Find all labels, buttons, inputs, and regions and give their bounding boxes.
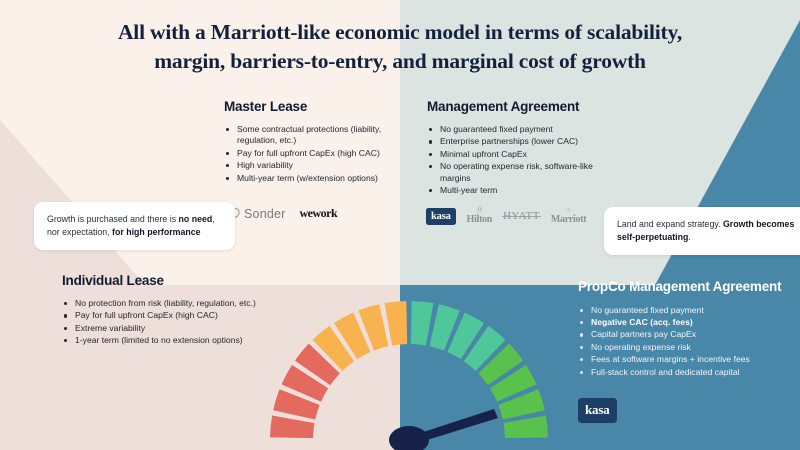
- list-item: 1-year term (limited to no extension opt…: [62, 335, 262, 346]
- hilton-crest-icon: Ⓞ: [476, 208, 482, 214]
- kasa-logo: kasa: [578, 398, 617, 423]
- panel-management-agreement: Management Agreement No guaranteed fixed…: [427, 98, 617, 197]
- list-item: Pay for full upfront CapEx (high CAC): [62, 310, 262, 321]
- panel-master-lease: Master Lease Some contractual protection…: [224, 98, 404, 185]
- propco-logo-row: kasa: [578, 398, 617, 423]
- kasa-logo: kasa: [426, 208, 456, 225]
- management-agreement-heading: Management Agreement: [427, 98, 617, 115]
- slide-title-line1: All with a Marriott-like economic model …: [118, 20, 682, 44]
- hilton-wordmark: Hilton: [467, 215, 492, 225]
- panel-individual-lease: Individual Lease No protection from risk…: [62, 272, 262, 348]
- list-item: No operating expense risk, software-like…: [427, 161, 617, 184]
- callout-right: Land and expand strategy. Growth becomes…: [604, 207, 800, 255]
- master-lease-logo-row: Sonder wework: [226, 206, 337, 221]
- wework-logo: wework: [300, 206, 338, 221]
- callout-right-text1: Land and expand strategy.: [617, 219, 723, 229]
- hyatt-logo: HYATT: [503, 210, 540, 222]
- list-item: Multi-year term: [427, 185, 617, 196]
- marriott-wordmark: Marriott: [551, 215, 586, 225]
- slide-title: All with a Marriott-like economic model …: [0, 18, 800, 76]
- slide-title-line2: margin, barriers-to-entry, and marginal …: [0, 47, 800, 76]
- callout-left-bold1: no need: [179, 214, 213, 224]
- callout-left: Growth is purchased and there is no need…: [34, 202, 235, 250]
- individual-lease-heading: Individual Lease: [62, 272, 262, 289]
- marriott-logo: ☆ Marriott: [551, 208, 586, 225]
- propco-bullets: No guaranteed fixed payment Negative CAC…: [578, 305, 793, 378]
- list-item: Negative CAC (acq. fees): [578, 317, 793, 328]
- management-agreement-logo-row: kasa Ⓞ Hilton HYATT ☆ Marriott: [426, 208, 586, 225]
- list-item: High variability: [224, 160, 404, 171]
- list-item: Full-stack control and dedicated capital: [578, 367, 793, 378]
- list-item: Some contractual protections (liability,…: [224, 124, 404, 147]
- list-item: No guaranteed fixed payment: [427, 124, 617, 135]
- list-item: No guaranteed fixed payment: [578, 305, 793, 316]
- callout-left-bold2: for high performance: [112, 227, 200, 237]
- propco-heading: PropCo Management Agreement: [578, 278, 793, 296]
- list-item: Minimal upfront CapEx: [427, 149, 617, 160]
- list-item: No operating expense risk: [578, 342, 793, 353]
- list-item: Enterprise partnerships (lower CAC): [427, 136, 617, 147]
- list-item: Capital partners pay CapEx: [578, 329, 793, 340]
- callout-right-text2: .: [688, 232, 690, 242]
- management-agreement-bullets: No guaranteed fixed payment Enterprise p…: [427, 124, 617, 196]
- master-lease-bullets: Some contractual protections (liability,…: [224, 124, 404, 184]
- slide-canvas: All with a Marriott-like economic model …: [0, 0, 800, 450]
- master-lease-heading: Master Lease: [224, 98, 404, 115]
- individual-lease-bullets: No protection from risk (liability, regu…: [62, 298, 262, 347]
- list-item: Fees at software margins + incentive fee…: [578, 354, 793, 365]
- wework-wordmark: wework: [300, 206, 338, 221]
- list-item: No protection from risk (liability, regu…: [62, 298, 262, 309]
- list-item: Pay for full upfront CapEx (high CAC): [224, 148, 404, 159]
- list-item-bold: Negative CAC (acq. fees): [591, 317, 693, 327]
- list-item: Multi-year term (w/extension options): [224, 173, 404, 184]
- list-item: Extreme variability: [62, 323, 262, 334]
- callout-left-text1: Growth is purchased and there is: [47, 214, 179, 224]
- sonder-wordmark: Sonder: [244, 207, 286, 221]
- marriott-crest-icon: ☆: [566, 208, 571, 214]
- hilton-logo: Ⓞ Hilton: [467, 208, 492, 225]
- panel-propco-management-agreement: PropCo Management Agreement No guarantee…: [578, 278, 793, 379]
